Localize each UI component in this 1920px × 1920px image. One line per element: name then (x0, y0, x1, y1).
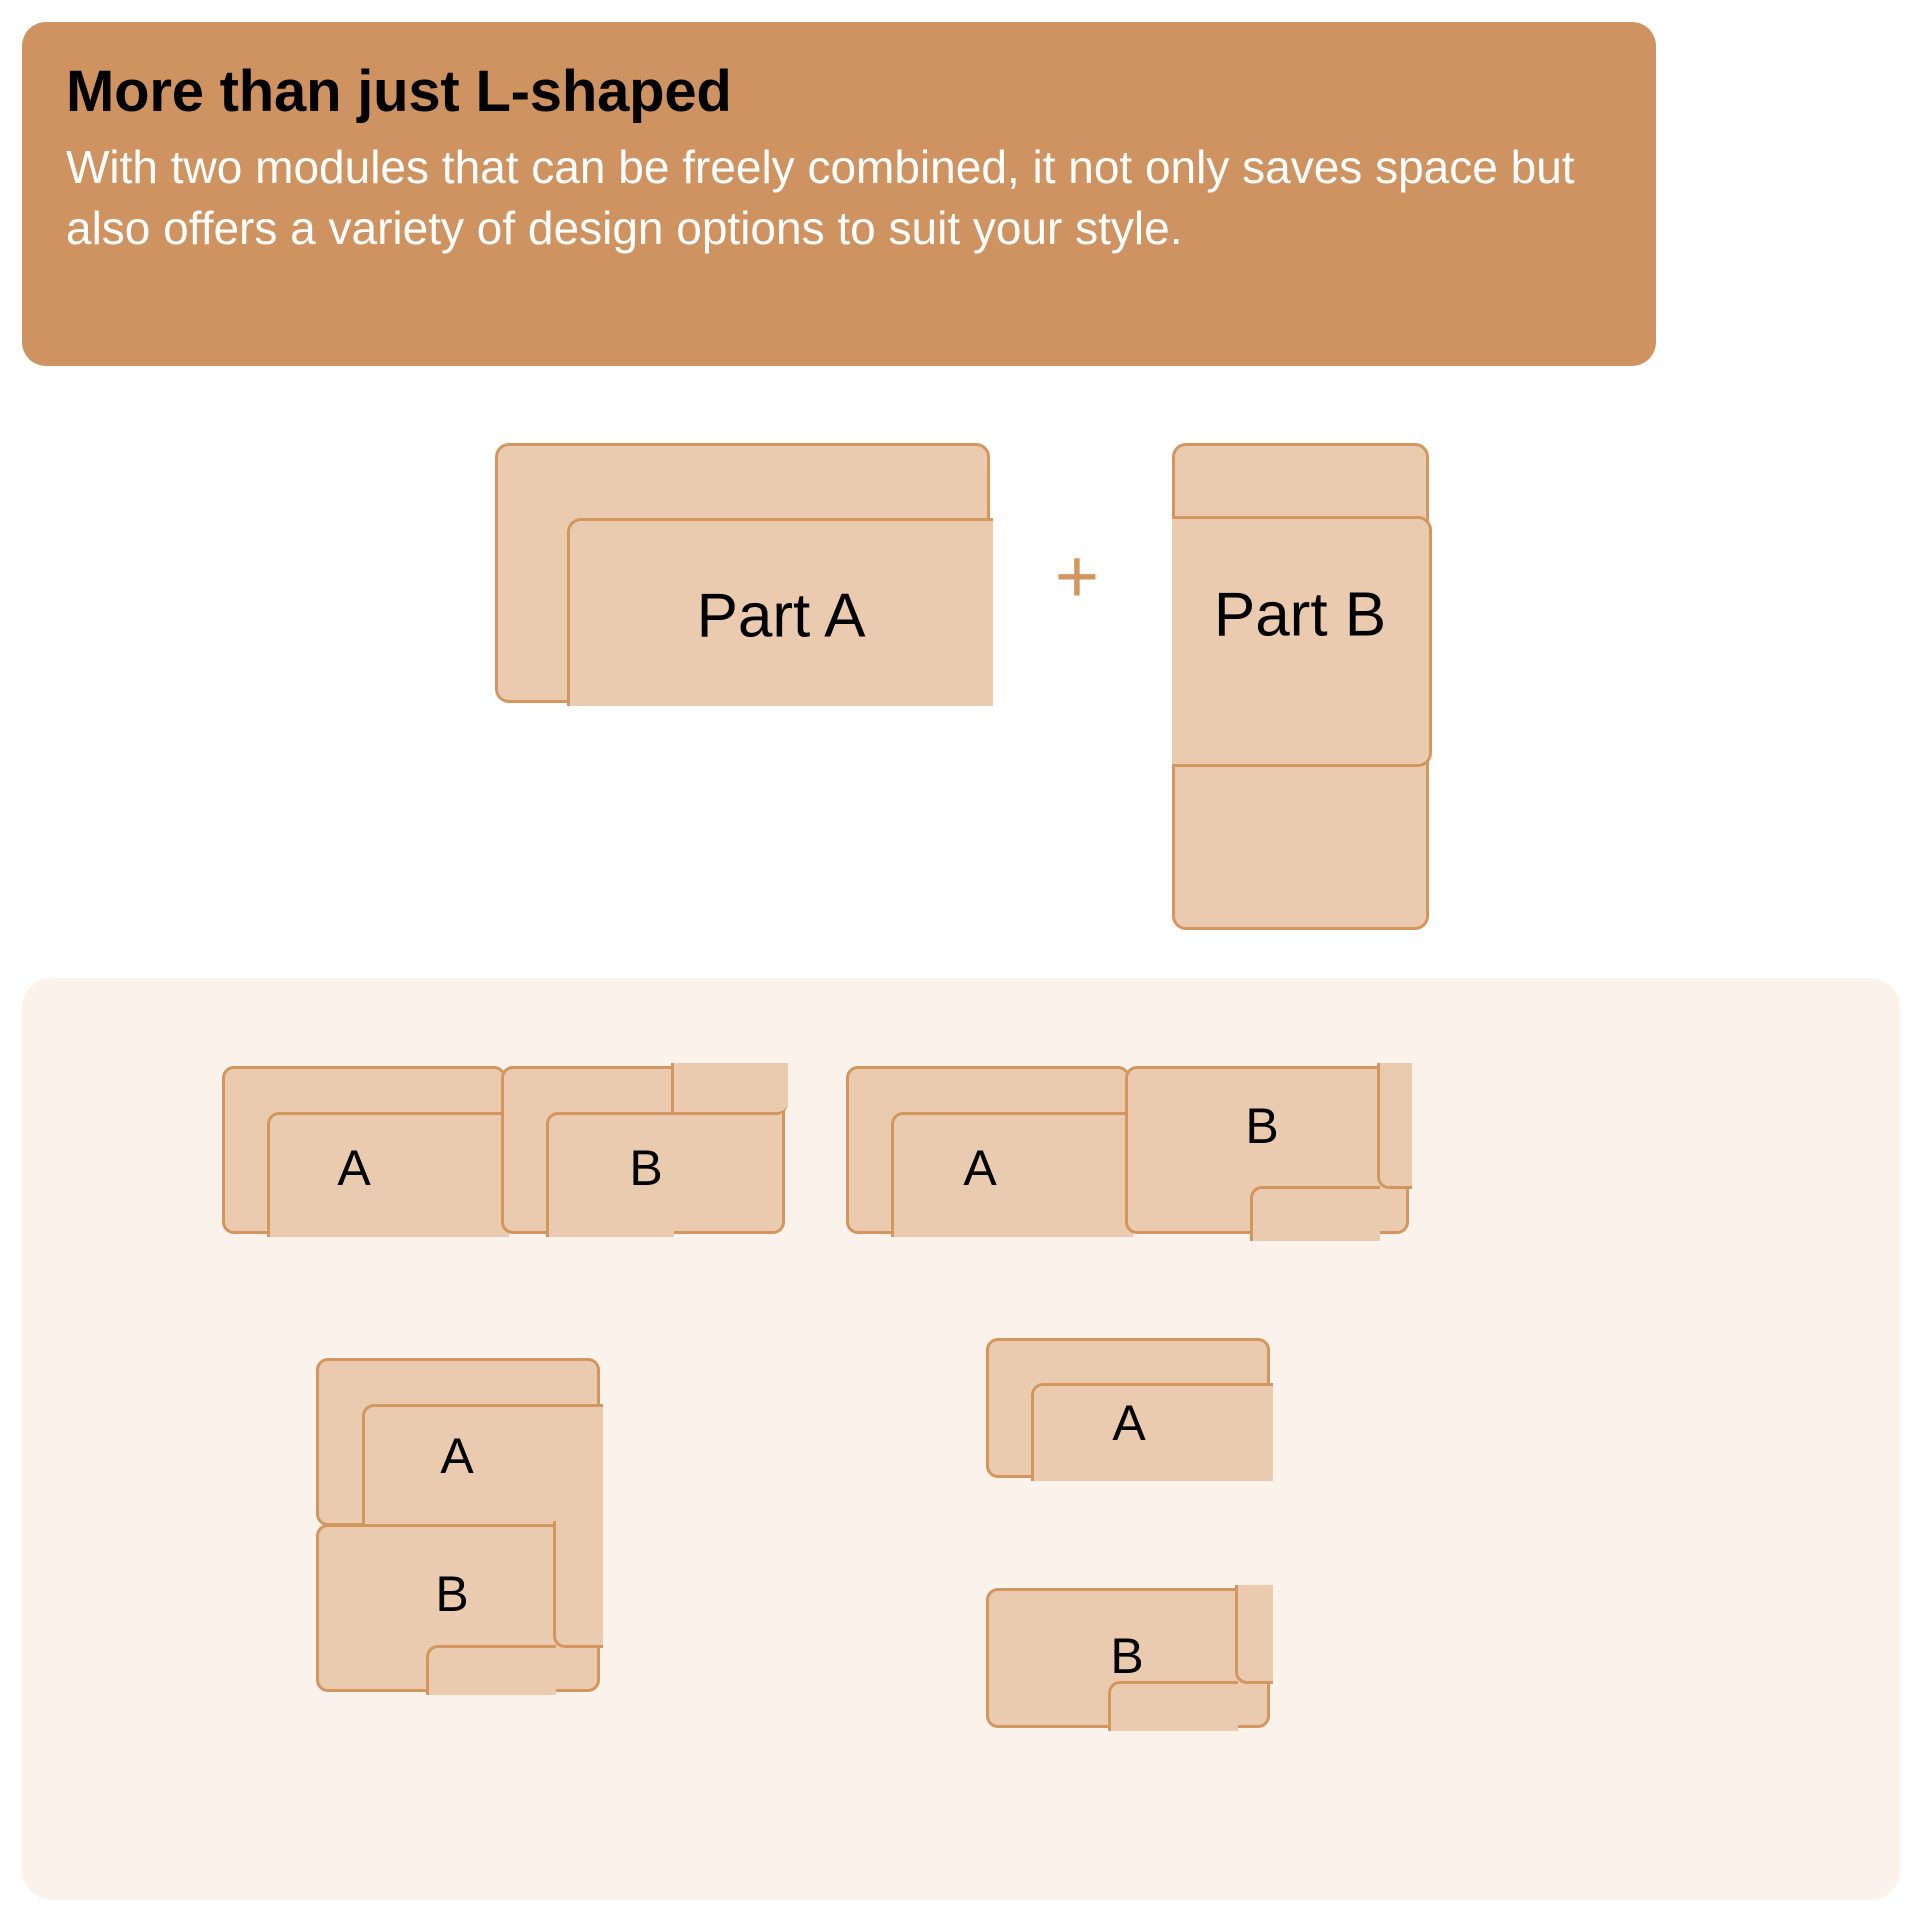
combinations-panel: A B A B A (22, 978, 1900, 1900)
combo1-a-label: A (337, 1139, 370, 1197)
combination-3: A B (22, 1358, 782, 1758)
combo3-a-label: A (440, 1427, 473, 1485)
combination-4: A B (822, 1338, 1582, 1778)
combo3-b-label: B (435, 1565, 468, 1623)
header-banner: More than just L-shaped With two modules… (22, 22, 1656, 366)
combo3-b-inner-seat (426, 1645, 556, 1695)
combo4-b-label: B (1110, 1627, 1143, 1685)
part-a-outer-shell (495, 443, 990, 703)
combo1-b-label: B (629, 1139, 662, 1197)
part-b-outer-shell (1172, 443, 1429, 930)
combo2-b-inner-seat (1250, 1186, 1380, 1241)
combo4-a-inner-seat (1031, 1383, 1273, 1481)
combo1-a-inner-seat (267, 1112, 509, 1237)
plus-operator-icon: + (1055, 539, 1099, 615)
combo2-b-inner-arm-extension (1377, 1063, 1412, 1189)
banner-subtitle: With two modules that can be freely comb… (66, 137, 1586, 259)
combo2-a-inner-seat (891, 1112, 1133, 1237)
combo4-a-label: A (1112, 1394, 1145, 1452)
combo2-a-label: A (963, 1139, 996, 1197)
combination-1: A B (22, 978, 782, 1178)
combo3-a-inner-seat (362, 1404, 603, 1530)
part-a-label: Part A (697, 581, 866, 652)
combination-2: A B (822, 978, 1582, 1178)
part-b-inner-seat (1172, 516, 1432, 767)
combo3-b-inner-arm-extension (553, 1521, 603, 1648)
combo4-b-inner-seat (1108, 1681, 1238, 1731)
combo4-b-inner-arm-extension (1235, 1585, 1273, 1684)
combo1-b-inner-arm-extension (671, 1063, 788, 1115)
part-b-label: Part B (1214, 580, 1386, 651)
combo2-b-label: B (1245, 1097, 1278, 1155)
banner-title: More than just L-shaped (66, 60, 1612, 125)
part-a-inner-seat (567, 518, 993, 706)
